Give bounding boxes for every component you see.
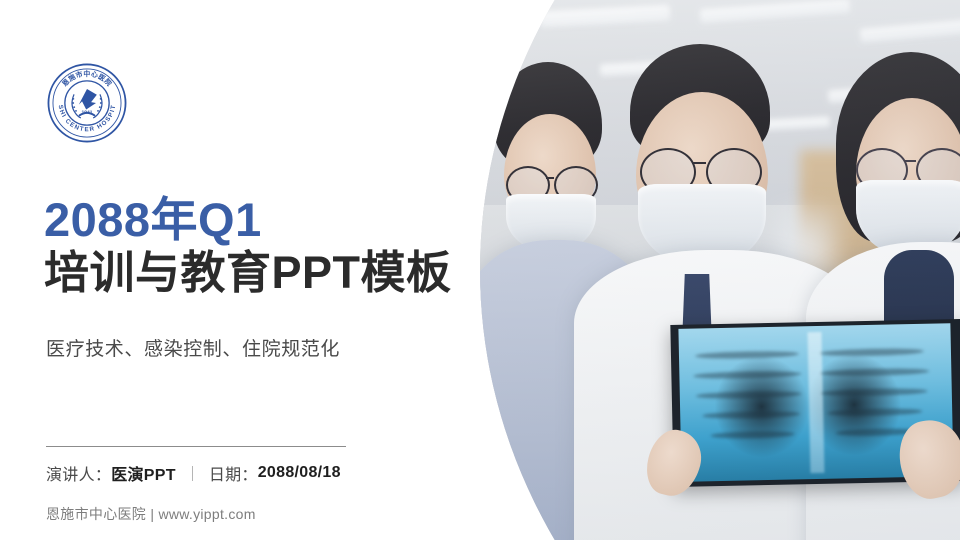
title-line-main: 培训与教育PPT模板 — [44, 248, 504, 298]
meta-divider-line — [46, 446, 346, 447]
subtitle-text: 医疗技术、感染控制、住院规范化 — [46, 334, 340, 361]
xray-rib — [821, 388, 927, 397]
svg-text:1941: 1941 — [82, 109, 93, 115]
xray-rib — [820, 348, 923, 357]
speaker-value: 医演PPT — [111, 461, 176, 485]
page-title: 2088年Q1 培训与教育PPT模板 — [44, 196, 504, 298]
footer-line: 恩施市中心医院 | www.yippt.com — [46, 504, 256, 524]
presenter-meta-line: 演讲人：医演PPT 日期：2088/08/18 — [46, 461, 341, 485]
female-doctor-glasses-bridge — [904, 160, 916, 162]
hospital-logo: 恩施市中心医院 ENSHI CENTER HOSPITAL 1941 — [46, 62, 128, 144]
xray-rib — [693, 371, 802, 380]
footer-organization: 恩施市中心医院 — [46, 506, 146, 522]
xray-rib — [695, 351, 798, 360]
male-doctor-glasses-bridge — [692, 162, 706, 164]
presentation-title-slide: 恩施市中心医院 ENSHI CENTER HOSPITAL 1941 — [0, 0, 960, 540]
background-doctor-glasses-bridge — [546, 177, 554, 179]
xray-rib — [702, 411, 800, 420]
xray-rib — [696, 391, 802, 400]
date-value: 2088/08/18 — [258, 464, 341, 482]
title-line-year-quarter: 2088年Q1 — [44, 196, 504, 244]
title-content-column: 恩施市中心医院 ENSHI CENTER HOSPITAL 1941 — [0, 0, 430, 540]
xray-rib — [827, 408, 922, 417]
meta-separator — [192, 466, 193, 481]
footer-website[interactable]: www.yippt.com — [158, 506, 255, 522]
ceiling-light-6 — [440, 28, 510, 43]
speaker-label: 演讲人： — [46, 461, 111, 485]
xray-rib — [710, 431, 794, 440]
xray-rib — [821, 368, 930, 377]
footer-separator: | — [150, 506, 154, 522]
date-label: 日期： — [209, 461, 258, 485]
